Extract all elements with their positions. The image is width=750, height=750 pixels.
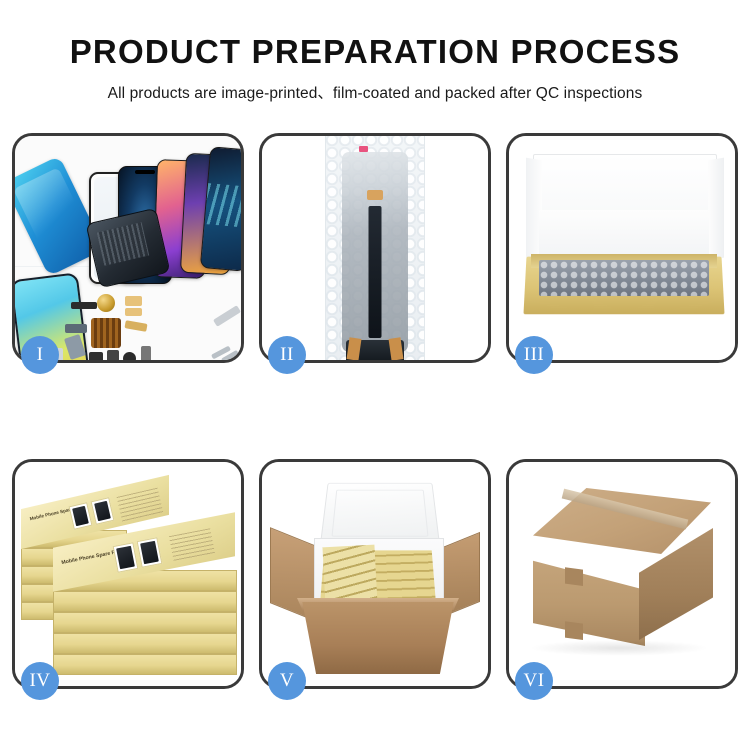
connector-chip [71, 302, 97, 309]
step-panel-2: II [259, 133, 491, 363]
small-ic-b [107, 350, 119, 360]
flex-cable-b [125, 308, 142, 316]
carton-front-face [533, 542, 645, 646]
gold-flex-strip [124, 320, 147, 332]
step-badge-3: III [515, 336, 553, 374]
gold-box-stack: Mobile Phone Spare Parts Mobile Phone Sp… [19, 474, 241, 680]
step-badge-1: I [21, 336, 59, 374]
step-badge-6: VI [515, 662, 553, 700]
product-preparation-process-page: PRODUCT PREPARATION PROCESS All products… [0, 0, 750, 750]
screwdriver-tool [213, 305, 241, 327]
bubble-wrap-bag [325, 136, 425, 360]
step-image-carton-with-foam [262, 462, 488, 686]
page-subtitle: All products are image-printed、film-coat… [0, 81, 750, 103]
carton-tab-upper [565, 566, 583, 586]
step-image-sealed-carton [509, 462, 735, 686]
step-badge-4: IV [21, 662, 59, 700]
carton-shadow [529, 640, 709, 656]
step-panel-1: I [12, 133, 244, 363]
step-image-parts-collage [15, 136, 241, 360]
process-steps-grid: I II [12, 133, 738, 689]
step-badge-2: II [268, 336, 306, 374]
foam-box-lid [320, 483, 440, 546]
step-panel-6: VI [506, 459, 738, 689]
gold-box [53, 654, 237, 675]
metal-bracket [65, 324, 87, 333]
step-image-bubble-wrapped-screen [262, 136, 488, 360]
step-badge-5: V [268, 662, 306, 700]
carton-body [292, 602, 464, 674]
gold-box [53, 612, 237, 633]
pink-label-sticker [359, 146, 368, 152]
page-header: PRODUCT PREPARATION PROCESS All products… [0, 0, 750, 103]
camera-module [123, 352, 136, 360]
step-image-open-gold-box [509, 136, 735, 360]
contact-grid-part [91, 318, 121, 348]
flex-cable [369, 206, 382, 338]
gold-box [53, 633, 237, 654]
gold-coil-part [97, 294, 115, 312]
step-image-stacked-gold-boxes: Mobile Phone Spare Parts Mobile Phone Sp… [15, 462, 241, 686]
step-panel-4: Mobile Phone Spare Parts Mobile Phone Sp… [12, 459, 244, 689]
gold-box [53, 591, 237, 612]
step-panel-5: V [259, 459, 491, 689]
notch [135, 170, 155, 174]
page-title: PRODUCT PREPARATION PROCESS [0, 34, 750, 70]
bubble-wrapped-contents [539, 260, 709, 296]
step-panel-3: III [506, 133, 738, 363]
speaker-module [141, 346, 151, 360]
flex-cable-a [125, 296, 142, 306]
gold-boxes-inside-left [322, 545, 377, 608]
tape-top [367, 190, 383, 200]
small-ic-a [89, 352, 103, 360]
